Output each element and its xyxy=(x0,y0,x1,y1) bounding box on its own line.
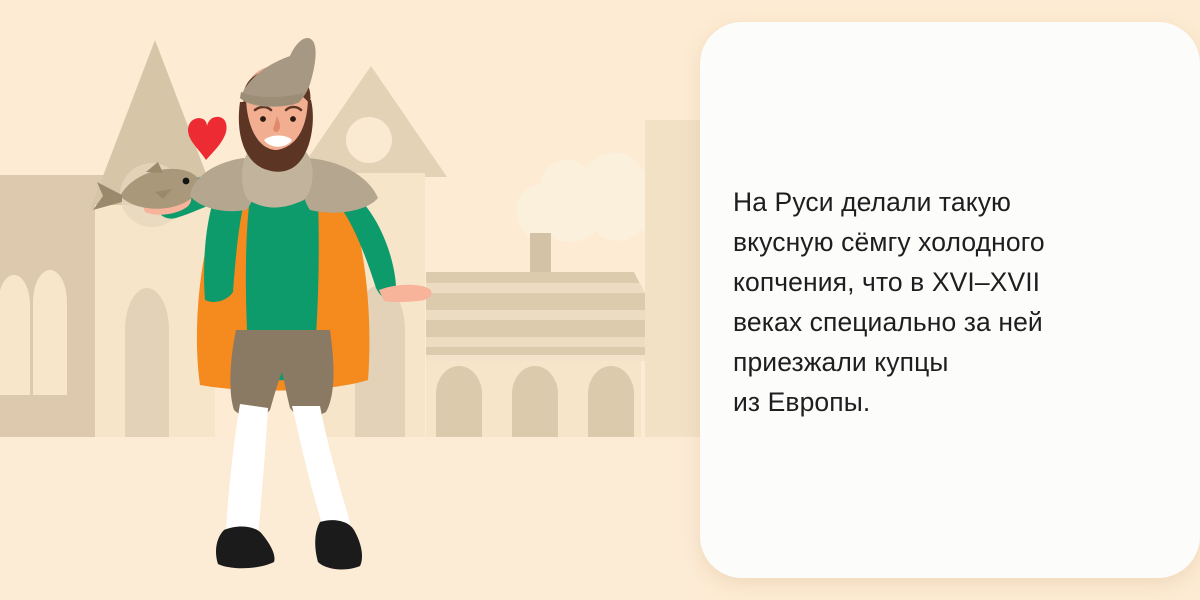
arch-window-left-2 xyxy=(33,270,67,395)
arch-window-right-1 xyxy=(436,366,482,437)
eye-left xyxy=(260,116,266,122)
illustration-scene: На Руси делали такую вкусную сёмгу холод… xyxy=(0,0,1200,600)
fact-text: На Руси делали такую вкусную сёмгу холод… xyxy=(733,182,1163,422)
tower-round-window xyxy=(346,117,392,163)
ground xyxy=(0,437,700,600)
building-far-right xyxy=(645,120,700,437)
eye-right xyxy=(290,116,296,122)
roof-stripe-2 xyxy=(426,310,660,320)
roof-edge xyxy=(426,355,679,361)
merchant-illustration xyxy=(0,0,700,600)
fish-eye xyxy=(183,178,190,185)
roof-stripe-3 xyxy=(426,337,674,347)
arch-window-left-1 xyxy=(0,275,30,395)
roof-stripe-1 xyxy=(426,283,645,293)
fact-card: На Руси делали такую вкусную сёмгу холод… xyxy=(700,22,1200,578)
arch-window-right-2 xyxy=(512,366,558,437)
spire-window xyxy=(125,288,169,440)
arch-window-right-3 xyxy=(588,366,634,437)
